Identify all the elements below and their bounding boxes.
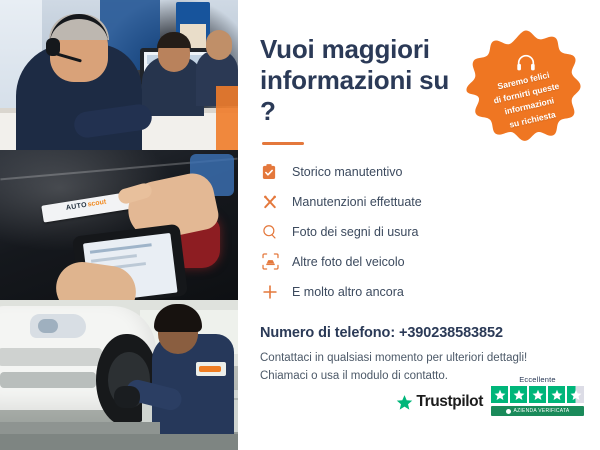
feature-label: Manutenzioni effettuate (286, 195, 422, 209)
magnifier-icon (262, 222, 286, 242)
feature-label: Storico manutentivo (286, 165, 402, 179)
content-panel: Vuoi maggiori informazioni su ? Saremo f… (238, 0, 600, 450)
feature-list: Storico manutentivo Manutenzioni effettu… (262, 159, 578, 305)
trustpilot-name: Trustpilot (416, 393, 483, 411)
trustpilot-widget[interactable]: Trustpilot Eccellente (396, 375, 584, 416)
feature-label: Foto dei segni di usura (286, 225, 418, 239)
feature-label: E molto altro ancora (286, 285, 404, 299)
star-rating (491, 386, 584, 403)
phone-number[interactable]: Numero di telefono: +390238583852 (260, 325, 578, 341)
rating-label: Eccellente (519, 375, 556, 384)
car-frame-icon (262, 252, 286, 272)
star-filled-4 (548, 386, 565, 403)
list-item: E molto altro ancora (262, 279, 578, 305)
contact-line-1: Contattaci in qualsiasi momento per ulte… (260, 349, 578, 367)
photo-wheel-service (0, 300, 238, 450)
list-item: Storico manutentivo (262, 159, 578, 185)
star-filled-3 (529, 386, 546, 403)
trustpilot-star-icon (396, 394, 413, 411)
title-divider (262, 142, 304, 145)
photo-bumper-inspection (0, 150, 238, 300)
star-filled-2 (510, 386, 527, 403)
star-half-5 (567, 386, 584, 403)
list-item: Foto dei segni di usura (262, 219, 578, 245)
star-filled-1 (491, 386, 508, 403)
tools-cross-icon (262, 192, 286, 212)
verified-check-icon (506, 409, 511, 414)
feature-label: Altre foto del veicolo (286, 255, 405, 269)
verified-label: AZIENDA VERIFICATA (514, 408, 570, 414)
list-item: Altre foto del veicolo (262, 249, 578, 275)
plus-icon (262, 282, 286, 302)
promo-card: Vuoi maggiori informazioni su ? Saremo f… (0, 0, 600, 450)
photo-call-center (0, 0, 238, 150)
photo-column (0, 0, 238, 450)
trustpilot-rating: Eccellente (491, 375, 584, 416)
verified-badge: AZIENDA VERIFICATA (491, 406, 584, 416)
list-item: Manutenzioni effettuate (262, 189, 578, 215)
clipboard-check-icon (262, 162, 286, 182)
callout-badge: Saremo felici di fornirti queste informa… (464, 28, 588, 152)
page-title: Vuoi maggiori informazioni su ? (260, 34, 470, 128)
trustpilot-logo: Trustpilot (396, 393, 483, 416)
